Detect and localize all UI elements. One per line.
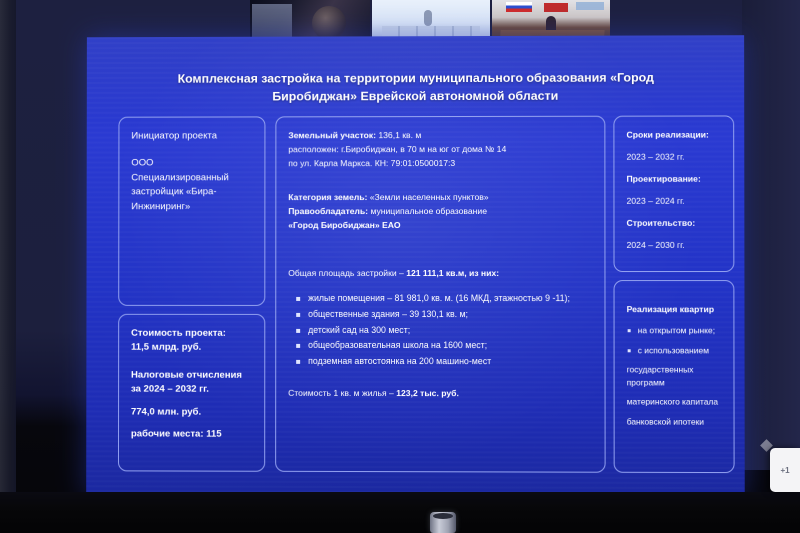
owner-label: Правообладатель:: [288, 206, 368, 216]
total-area-line: Общая площадь застройки – 121 111,1 кв.м…: [288, 267, 593, 281]
slide-title: Комплексная застройка на территории муни…: [138, 69, 694, 106]
list-item: с использованием: [627, 344, 723, 357]
plot-location-2: по ул. Карла Маркса. КН: 79:01:0500017:3: [288, 157, 593, 171]
initiator-line-4: Инжиниринг»: [131, 200, 253, 214]
cost-box: Стоимость проекта: 11,5 млрд. руб. Налог…: [118, 314, 265, 472]
list-item: на открытом рынке;: [627, 324, 723, 337]
category-label: Категория земель:: [288, 192, 367, 202]
initiator-box: Инициатор проекта ООО Специализированный…: [118, 116, 265, 306]
plot-label: Земельный участок:: [288, 130, 376, 140]
initiator-line-2: Специализированный: [131, 171, 253, 185]
russian-flag-icon: [506, 2, 532, 12]
price-per-sqm-line: Стоимость 1 кв. м жилья – 123,2 тыс. руб…: [288, 387, 593, 401]
room-left-edge: [0, 0, 16, 492]
sale-bullet-list: на открытом рынке; с использованием: [627, 324, 723, 356]
terms-box: Сроки реализации: 2023 – 2032 гг. Проект…: [613, 115, 734, 272]
additional-participants-card[interactable]: +1: [770, 448, 800, 492]
terms-period: 2023 – 2032 гг.: [626, 150, 722, 164]
list-item: общественные здания – 39 130,1 кв. м;: [294, 307, 593, 323]
conference-room-photo: Ленинское Облученский Комплексная застро…: [0, 0, 800, 533]
owner-value-2: «Город Биробиджан» ЕАО: [288, 219, 593, 233]
price-value: 123,2 тыс. руб.: [396, 388, 459, 398]
cost-value: 11,5 млрд. руб.: [131, 341, 253, 355]
red-banner-icon: [544, 3, 568, 12]
sale-box: Реализация квартир на открытом рынке; с …: [614, 280, 735, 473]
list-item: детский сад на 300 мест;: [294, 323, 593, 339]
initiator-line-3: застройщик «Бира-: [131, 185, 253, 199]
area-breakdown-list: жилые помещения – 81 981,0 кв. м. (16 МК…: [294, 291, 593, 370]
category-line: Категория земель: «Земли населенных пунк…: [288, 191, 593, 205]
category-value: «Земли населенных пунктов»: [370, 192, 489, 202]
plot-line-1: Земельный участок: 136,1 кв. м: [288, 129, 593, 143]
sale-heading: Реализация квартир: [627, 303, 723, 317]
tax-value: 774,0 млн. руб.: [131, 405, 253, 420]
total-area-label: Общая площадь застройки –: [288, 268, 404, 278]
sale-line-3: банковской ипотеки: [627, 415, 723, 428]
terms-heading: Сроки реализации:: [626, 129, 722, 143]
cost-heading: Стоимость проекта:: [131, 327, 253, 341]
build-heading: Строительство:: [627, 216, 723, 230]
tax-period: за 2024 – 2032 гг.: [131, 383, 253, 398]
sale-line-2: материнского капитала: [627, 396, 723, 409]
room-floor: [0, 492, 800, 533]
participant-count-label: +1: [780, 466, 789, 475]
sale-line-1: государственных программ: [627, 363, 723, 388]
owner-line: Правообладатель: муниципальное образован…: [288, 205, 593, 219]
plot-details-box: Земельный участок: 136,1 кв. м расположе…: [275, 116, 605, 473]
initiator-line-1: ООО: [131, 157, 253, 172]
tax-heading: Налоговые отчисления: [131, 368, 253, 383]
plot-area: 136,1 кв. м: [378, 130, 421, 140]
list-item: общеобразовательная школа на 1600 мест;: [294, 338, 593, 354]
initiator-heading: Инициатор проекта: [131, 129, 253, 144]
price-label: Стоимость 1 кв. м жилья –: [288, 388, 394, 398]
build-period: 2024 – 2030 гг.: [627, 238, 723, 252]
blue-banner-icon: [576, 2, 604, 10]
list-item: подземная автостоянка на 200 машино-мест: [294, 354, 593, 370]
room-right-wall: [742, 0, 800, 470]
design-heading: Проектирование:: [627, 172, 723, 186]
owner-value: муниципальное образование: [370, 206, 487, 216]
floor-object: [430, 512, 456, 533]
list-item: жилые помещения – 81 981,0 кв. м. (16 МК…: [294, 291, 593, 307]
jobs-value: рабочие места: 115: [131, 427, 253, 442]
design-period: 2023 – 2024 гг.: [627, 194, 723, 208]
projection-slide: Комплексная застройка на территории муни…: [86, 35, 745, 497]
total-area-value: 121 111,1 кв.м, из них:: [406, 268, 499, 278]
plot-location-1: расположен: г.Бироби​джан, в 70 м на юг …: [288, 143, 593, 157]
